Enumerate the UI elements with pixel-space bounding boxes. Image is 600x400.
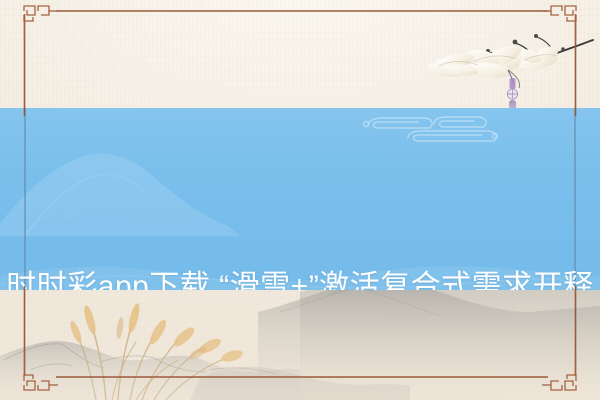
key-fret-corner-top-left bbox=[14, 4, 68, 44]
banner-image: 时时彩app下载 “滑雪+”激活复合式需求开释 用后劲 改进场景“错峰夜滑”“南… bbox=[0, 0, 600, 400]
headline-line-1: 时时彩app下载 “滑雪+”激活复合式需求开释 bbox=[0, 268, 600, 290]
frame-left-rule-band bbox=[24, 108, 26, 290]
headline-band: 时时彩app下载 “滑雪+”激活复合式需求开释 用后劲 改进场景“错峰夜滑”“南… bbox=[0, 108, 600, 290]
cloud-motif bbox=[338, 110, 528, 170]
headline-text: 时时彩app下载 “滑雪+”激活复合式需求开释 用后劲 改进场景“错峰夜滑”“南… bbox=[0, 268, 600, 290]
snow-mountain-watermark bbox=[0, 116, 290, 236]
frame-right-rule-band bbox=[574, 108, 576, 290]
